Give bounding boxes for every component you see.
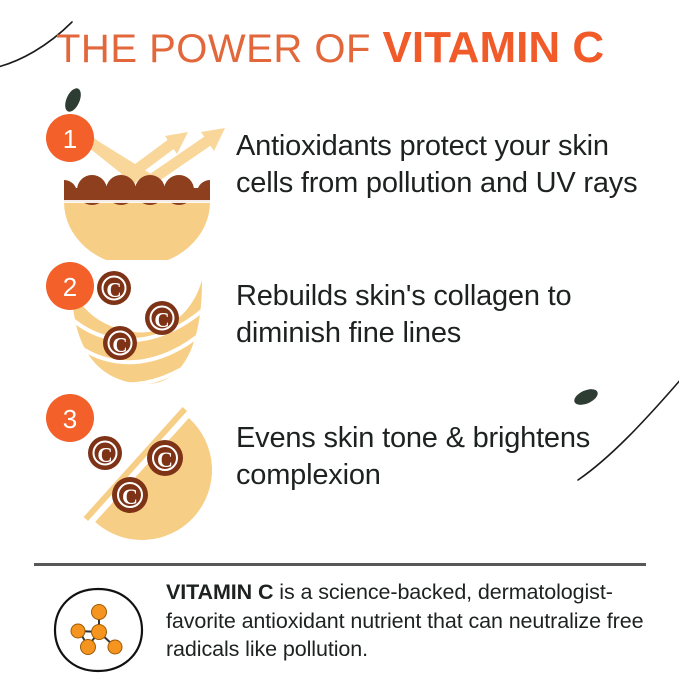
footer-text: VITAMIN C is a science-backed, dermatolo… bbox=[166, 578, 666, 664]
vitamin-c-marker: C bbox=[147, 440, 183, 476]
page-title-light: THE POWER OF bbox=[56, 27, 383, 71]
benefit-text: Rebuilds skin's collagen to diminish fin… bbox=[236, 278, 656, 352]
svg-text:C: C bbox=[97, 443, 112, 467]
vitamin-c-marker: C bbox=[112, 477, 148, 513]
footer-section: VITAMIN C is a science-backed, dermatolo… bbox=[34, 578, 652, 674]
svg-text:C: C bbox=[122, 484, 138, 509]
skin-barrier-bowl-icon bbox=[64, 202, 210, 260]
benefit-number: 3 bbox=[63, 404, 77, 434]
molecule-icon bbox=[50, 584, 146, 676]
page-title-bold: VITAMIN C bbox=[383, 23, 605, 72]
footer-divider bbox=[34, 563, 646, 566]
benefit-number-badge: 2 bbox=[42, 258, 98, 319]
svg-text:C: C bbox=[154, 308, 169, 332]
vitamin-c-marker: C bbox=[97, 271, 131, 305]
svg-text:C: C bbox=[106, 278, 121, 302]
page-title: THE POWER OF VITAMIN C bbox=[56, 26, 656, 70]
svg-text:C: C bbox=[112, 333, 127, 357]
benefit-number-badge: 1 bbox=[42, 110, 98, 171]
benefit-number: 1 bbox=[63, 124, 77, 154]
benefit-number-badge: 3 bbox=[42, 390, 98, 451]
vitamin-c-infographic: THE POWER OF VITAMIN C bbox=[0, 0, 679, 679]
svg-text:C: C bbox=[157, 447, 173, 472]
benefit-row: C C C Rebuilds skin's collagen to dimini… bbox=[0, 258, 679, 408]
benefit-row: Antioxidants protect your skin cells fro… bbox=[0, 110, 679, 260]
benefit-text: Antioxidants protect your skin cells fro… bbox=[236, 128, 656, 202]
vitamin-c-marker: C bbox=[145, 301, 179, 335]
benefit-number: 2 bbox=[63, 272, 77, 302]
benefit-text: Evens skin tone & brightens complexion bbox=[236, 420, 656, 494]
footer-lead-label: VITAMIN C bbox=[166, 580, 273, 604]
benefit-row: C C C Evens skin tone & brightens comple… bbox=[0, 390, 679, 540]
vitamin-c-marker: C bbox=[103, 326, 137, 360]
